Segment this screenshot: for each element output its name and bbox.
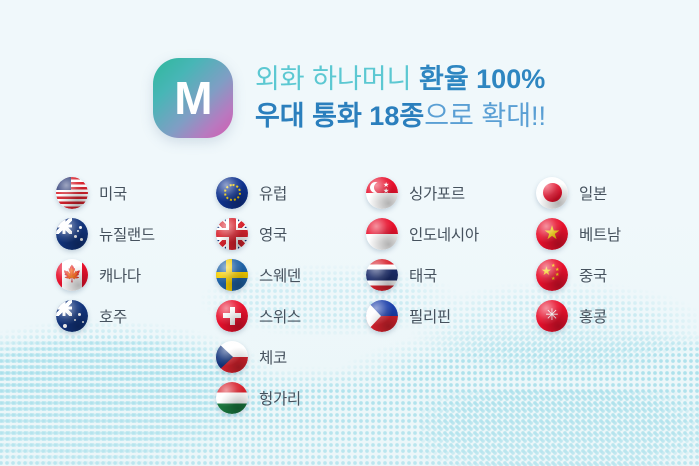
country-label-ch: 스위스 xyxy=(259,305,301,327)
flag-cz-icon xyxy=(216,341,248,373)
country-label-cn: 중국 xyxy=(579,264,607,286)
country-grid: 미국 뉴질랜드 🍁 캐나다 xyxy=(0,172,699,418)
hana-money-logo: M xyxy=(153,58,233,138)
flag-vn-icon: ★ xyxy=(536,218,568,250)
country-label-th: 태국 xyxy=(409,264,437,286)
flag-nz-icon xyxy=(56,218,88,250)
headline-block: 외화 하나머니 환율 100% 우대 통화 18종으로 확대!! xyxy=(255,62,546,133)
headline-line-1-light: 외화 하나머니 xyxy=(255,64,419,94)
country-item-jp[interactable]: 일본 xyxy=(536,172,696,213)
country-label-jp: 일본 xyxy=(579,182,607,204)
headline-line-2: 우대 통화 18종으로 확대!! xyxy=(255,99,546,134)
flag-us-icon xyxy=(56,177,88,209)
country-label-hu: 헝가리 xyxy=(259,387,301,409)
country-item-cn[interactable]: ★ ★ ★ ★ ★ 중국 xyxy=(536,254,696,295)
promo-banner: M 외화 하나머니 환율 100% 우대 통화 18종으로 확대!! 미국 xyxy=(0,0,699,466)
flag-ch-icon xyxy=(216,300,248,332)
country-label-nz: 뉴질랜드 xyxy=(99,223,155,245)
country-label-se: 스웨덴 xyxy=(259,264,301,286)
country-label-au: 호주 xyxy=(99,305,127,327)
country-item-sg[interactable]: ★ ★ 싱가포르 xyxy=(366,172,536,213)
country-item-cz[interactable]: 체코 xyxy=(216,336,366,377)
headline-line-1-strong: 환율 100% xyxy=(419,64,545,94)
banner-header: M 외화 하나머니 환율 100% 우대 통화 18종으로 확대!! xyxy=(0,46,699,150)
headline-line-2-strong: 우대 통화 18종 xyxy=(255,101,424,131)
flag-ph-icon xyxy=(366,300,398,332)
country-label-ph: 필리핀 xyxy=(409,305,451,327)
country-column-1: 미국 뉴질랜드 🍁 캐나다 xyxy=(56,172,216,418)
country-item-id[interactable]: 인도네시아 xyxy=(366,213,536,254)
logo-letter: M xyxy=(174,75,211,121)
flag-se-icon xyxy=(216,259,248,291)
flag-ca-icon: 🍁 xyxy=(56,259,88,291)
country-column-3: ★ ★ 싱가포르 인도네시아 태국 xyxy=(366,172,536,418)
country-item-vn[interactable]: ★ 베트남 xyxy=(536,213,696,254)
flag-id-icon xyxy=(366,218,398,250)
flag-hk-icon: ✳ xyxy=(536,300,568,332)
country-label-us: 미국 xyxy=(99,182,127,204)
flag-cn-icon: ★ ★ ★ ★ ★ xyxy=(536,259,568,291)
flag-th-icon xyxy=(366,259,398,291)
flag-sg-icon: ★ ★ xyxy=(366,177,398,209)
country-label-gb: 영국 xyxy=(259,223,287,245)
country-item-au[interactable]: 호주 xyxy=(56,295,216,336)
country-column-2: 유럽 영국 스웨덴 스위스 xyxy=(216,172,366,418)
country-label-id: 인도네시아 xyxy=(409,223,479,245)
country-item-se[interactable]: 스웨덴 xyxy=(216,254,366,295)
flag-gb-icon xyxy=(216,218,248,250)
country-item-hk[interactable]: ✳ 홍콩 xyxy=(536,295,696,336)
country-label-sg: 싱가포르 xyxy=(409,182,465,204)
country-item-ca[interactable]: 🍁 캐나다 xyxy=(56,254,216,295)
country-item-nz[interactable]: 뉴질랜드 xyxy=(56,213,216,254)
country-item-us[interactable]: 미국 xyxy=(56,172,216,213)
country-label-hk: 홍콩 xyxy=(579,305,607,327)
flag-hu-icon xyxy=(216,382,248,414)
country-column-4: 일본 ★ 베트남 ★ ★ ★ ★ ★ 중국 xyxy=(536,172,696,418)
country-item-hu[interactable]: 헝가리 xyxy=(216,377,366,418)
bauhinia-icon: ✳ xyxy=(545,308,558,324)
flag-jp-icon xyxy=(536,177,568,209)
country-item-eu[interactable]: 유럽 xyxy=(216,172,366,213)
country-item-ph[interactable]: 필리핀 xyxy=(366,295,536,336)
country-label-eu: 유럽 xyxy=(259,182,287,204)
flag-eu-icon xyxy=(216,177,248,209)
country-item-ch[interactable]: 스위스 xyxy=(216,295,366,336)
headline-line-2-mid: 으로 확대!! xyxy=(424,101,546,131)
country-label-ca: 캐나다 xyxy=(99,264,141,286)
flag-au-icon xyxy=(56,300,88,332)
maple-leaf-icon: 🍁 xyxy=(62,267,82,283)
country-item-gb[interactable]: 영국 xyxy=(216,213,366,254)
headline-line-1: 외화 하나머니 환율 100% xyxy=(255,62,546,97)
country-item-th[interactable]: 태국 xyxy=(366,254,536,295)
country-label-cz: 체코 xyxy=(259,346,287,368)
country-label-vn: 베트남 xyxy=(579,223,621,245)
